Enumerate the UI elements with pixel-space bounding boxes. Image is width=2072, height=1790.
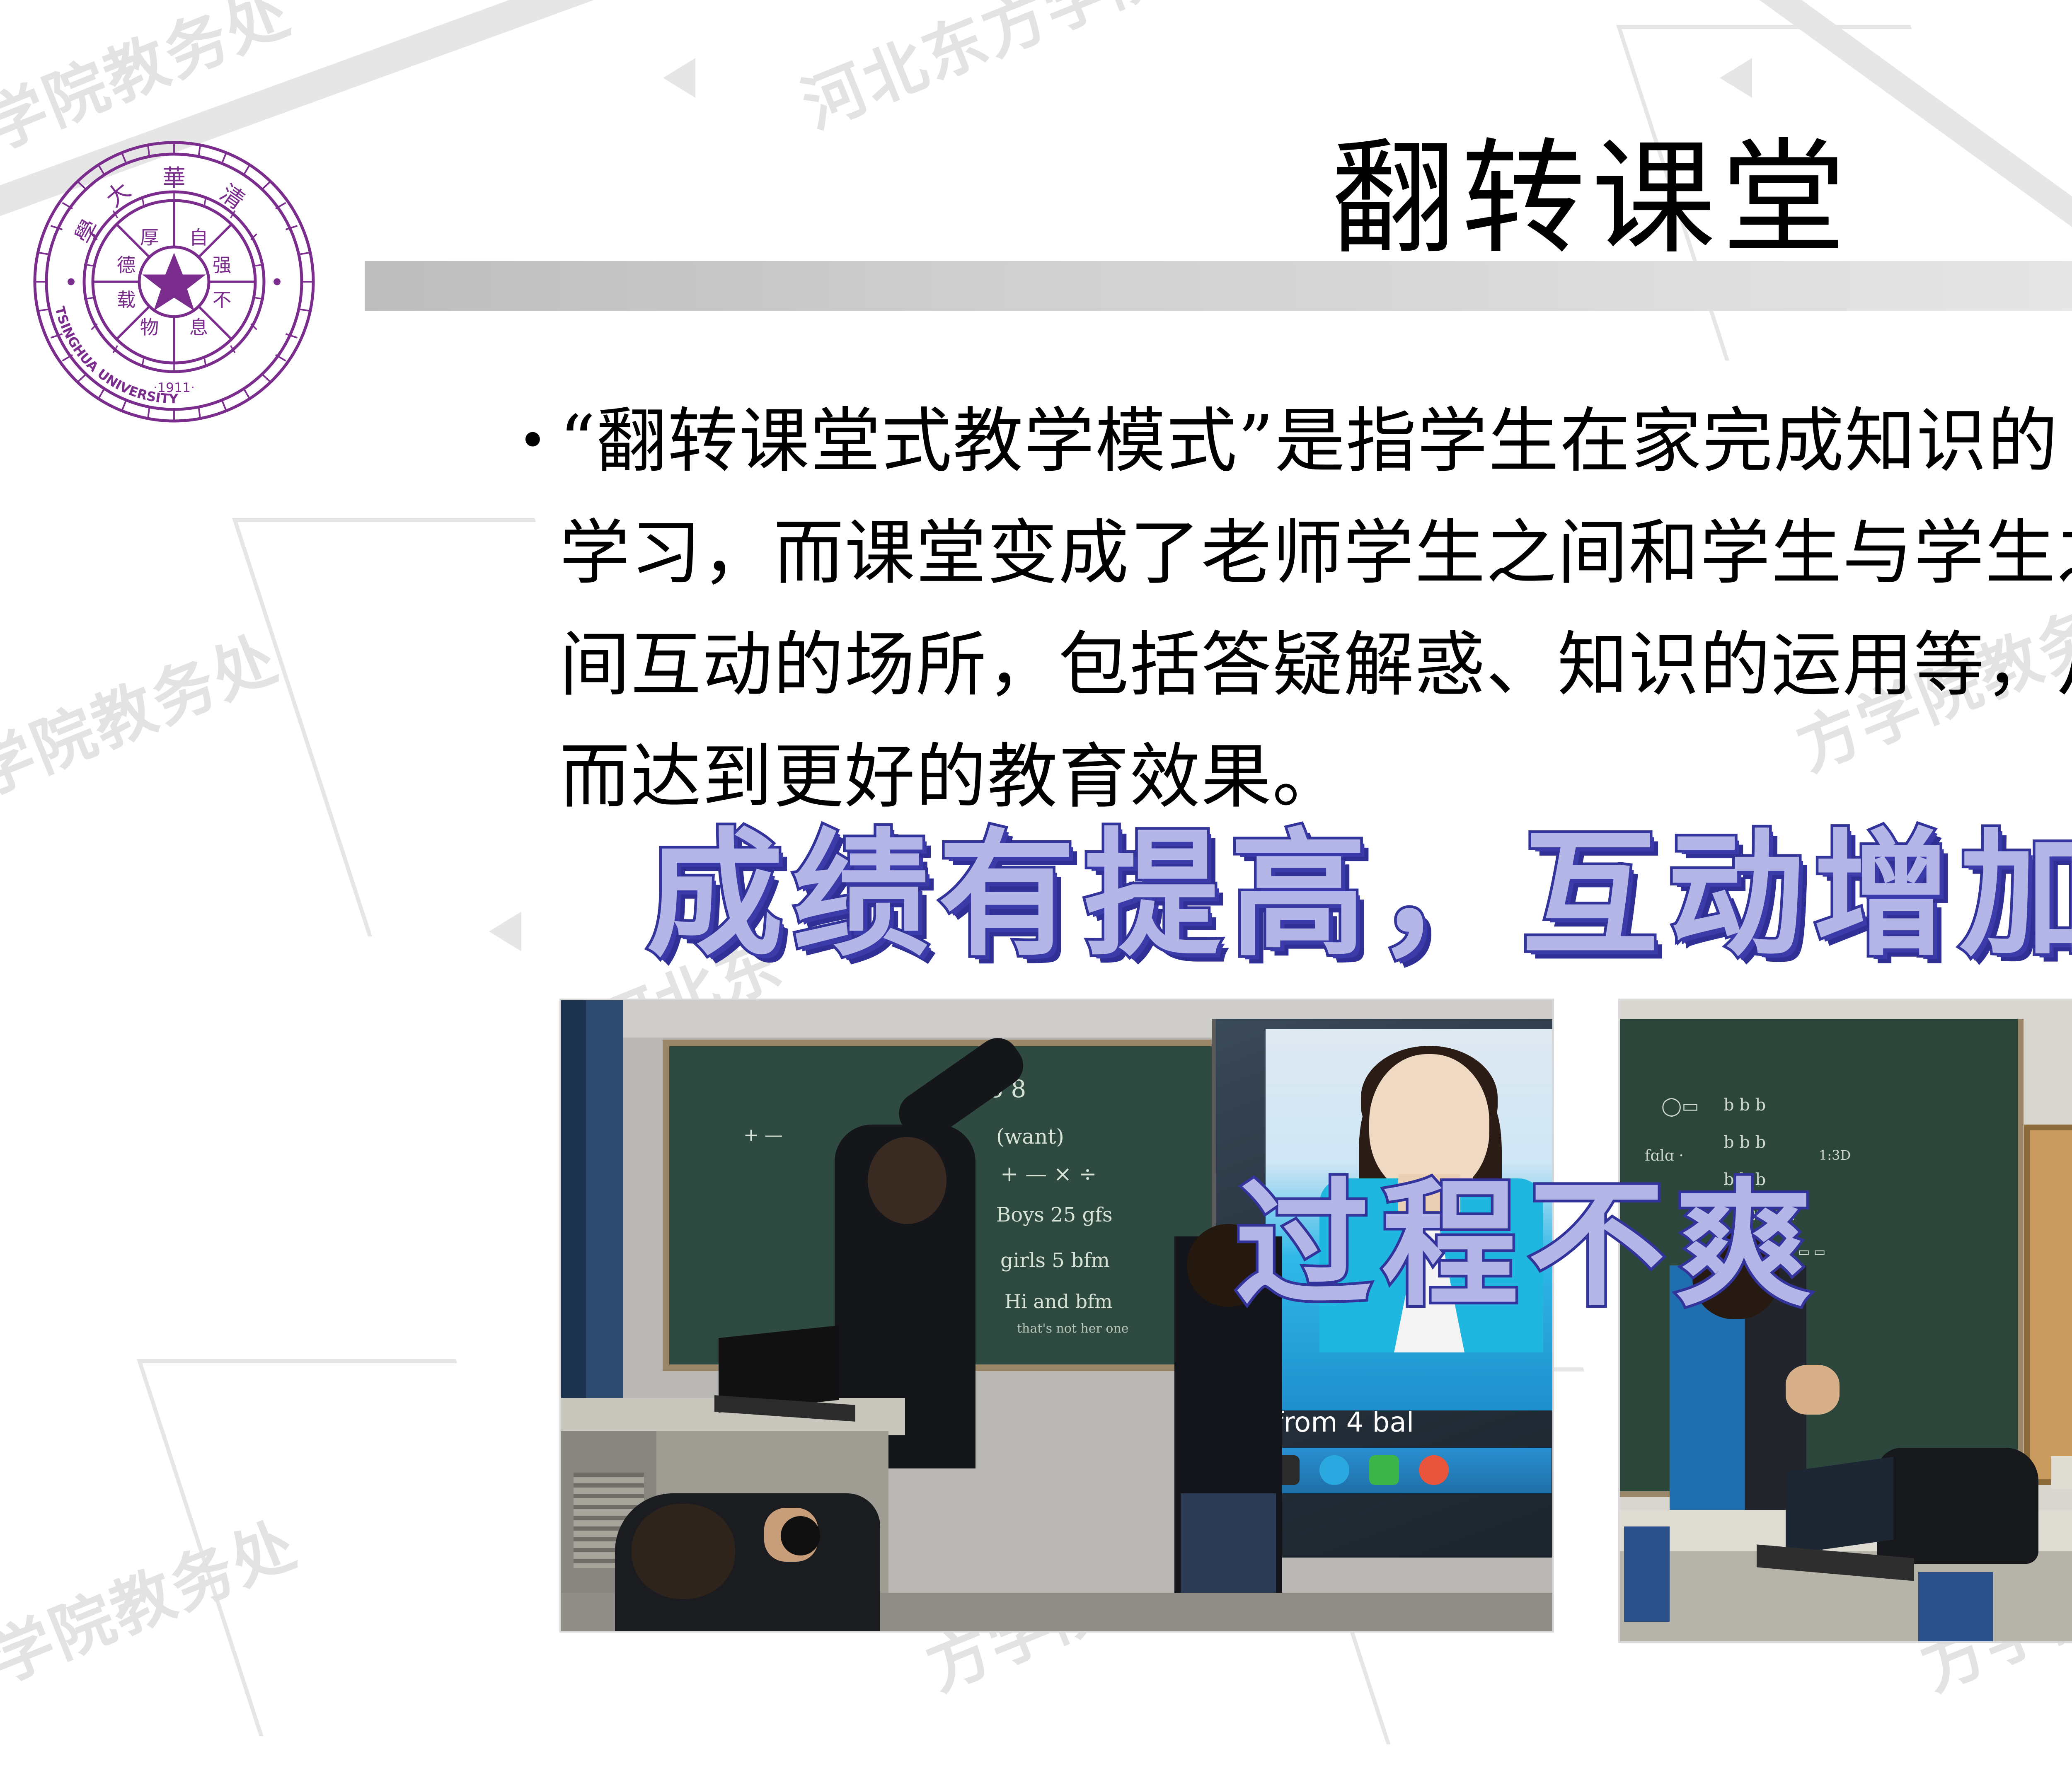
svg-text:强: 强 [213, 254, 232, 276]
svg-text:物: 物 [140, 317, 159, 339]
wordart-headline-secondary: 过程不爽 [1235, 1177, 1822, 1313]
svg-text:不: 不 [213, 289, 232, 311]
watermark-text: 学院教务处 [0, 1495, 309, 1699]
bullet-item: • “翻转课堂式教学模式”是指学生在家完成知识的 学习，而课堂变成了老师学生之间… [518, 385, 2072, 833]
svg-text:華: 華 [162, 165, 186, 192]
watermark-text: 河北东方学院 [787, 0, 1181, 145]
svg-text:厚: 厚 [140, 227, 159, 249]
bullet-marker: • [518, 385, 559, 497]
svg-text:學: 學 [70, 215, 105, 248]
tsinghua-seal-logo: 厚 自 强 不 息 物 载 德 大 華 清 學 TSINGHUA UNIVERS… [29, 137, 319, 427]
svg-text:德: 德 [117, 254, 136, 276]
body-line: 间互动的场所，包括答疑解惑、知识的运用等，从 [559, 609, 2072, 721]
svg-text:息: 息 [189, 317, 208, 339]
svg-text:·1911·: ·1911· [153, 380, 195, 395]
screen-caption: from 4 bal [1274, 1406, 1414, 1438]
svg-text:自: 自 [189, 227, 208, 249]
body-line: “翻转课堂式教学模式”是指学生在家完成知识的 [559, 385, 2072, 497]
body-line: 学习，而课堂变成了老师学生之间和学生与学生之 [559, 497, 2072, 609]
watermark-text: 方学院教务处 [0, 609, 290, 837]
bullet-paragraph: “翻转课堂式教学模式”是指学生在家完成知识的 学习，而课堂变成了老师学生之间和学… [559, 385, 2072, 833]
svg-text:载: 载 [117, 289, 136, 311]
svg-text:大: 大 [101, 177, 136, 213]
body-text-block: • “翻转课堂式教学模式”是指学生在家完成知识的 学习，而课堂变成了老师学生之间… [518, 385, 2072, 833]
svg-text:清: 清 [215, 179, 249, 215]
wordart-headline-primary: 成绩有提高，互动增加 [646, 827, 2072, 963]
presentation-slide: 河北东方学院 方学院教务处 河北东方学院 方学院教务处 河北东方学院 河北东方学… [0, 0, 2072, 1790]
